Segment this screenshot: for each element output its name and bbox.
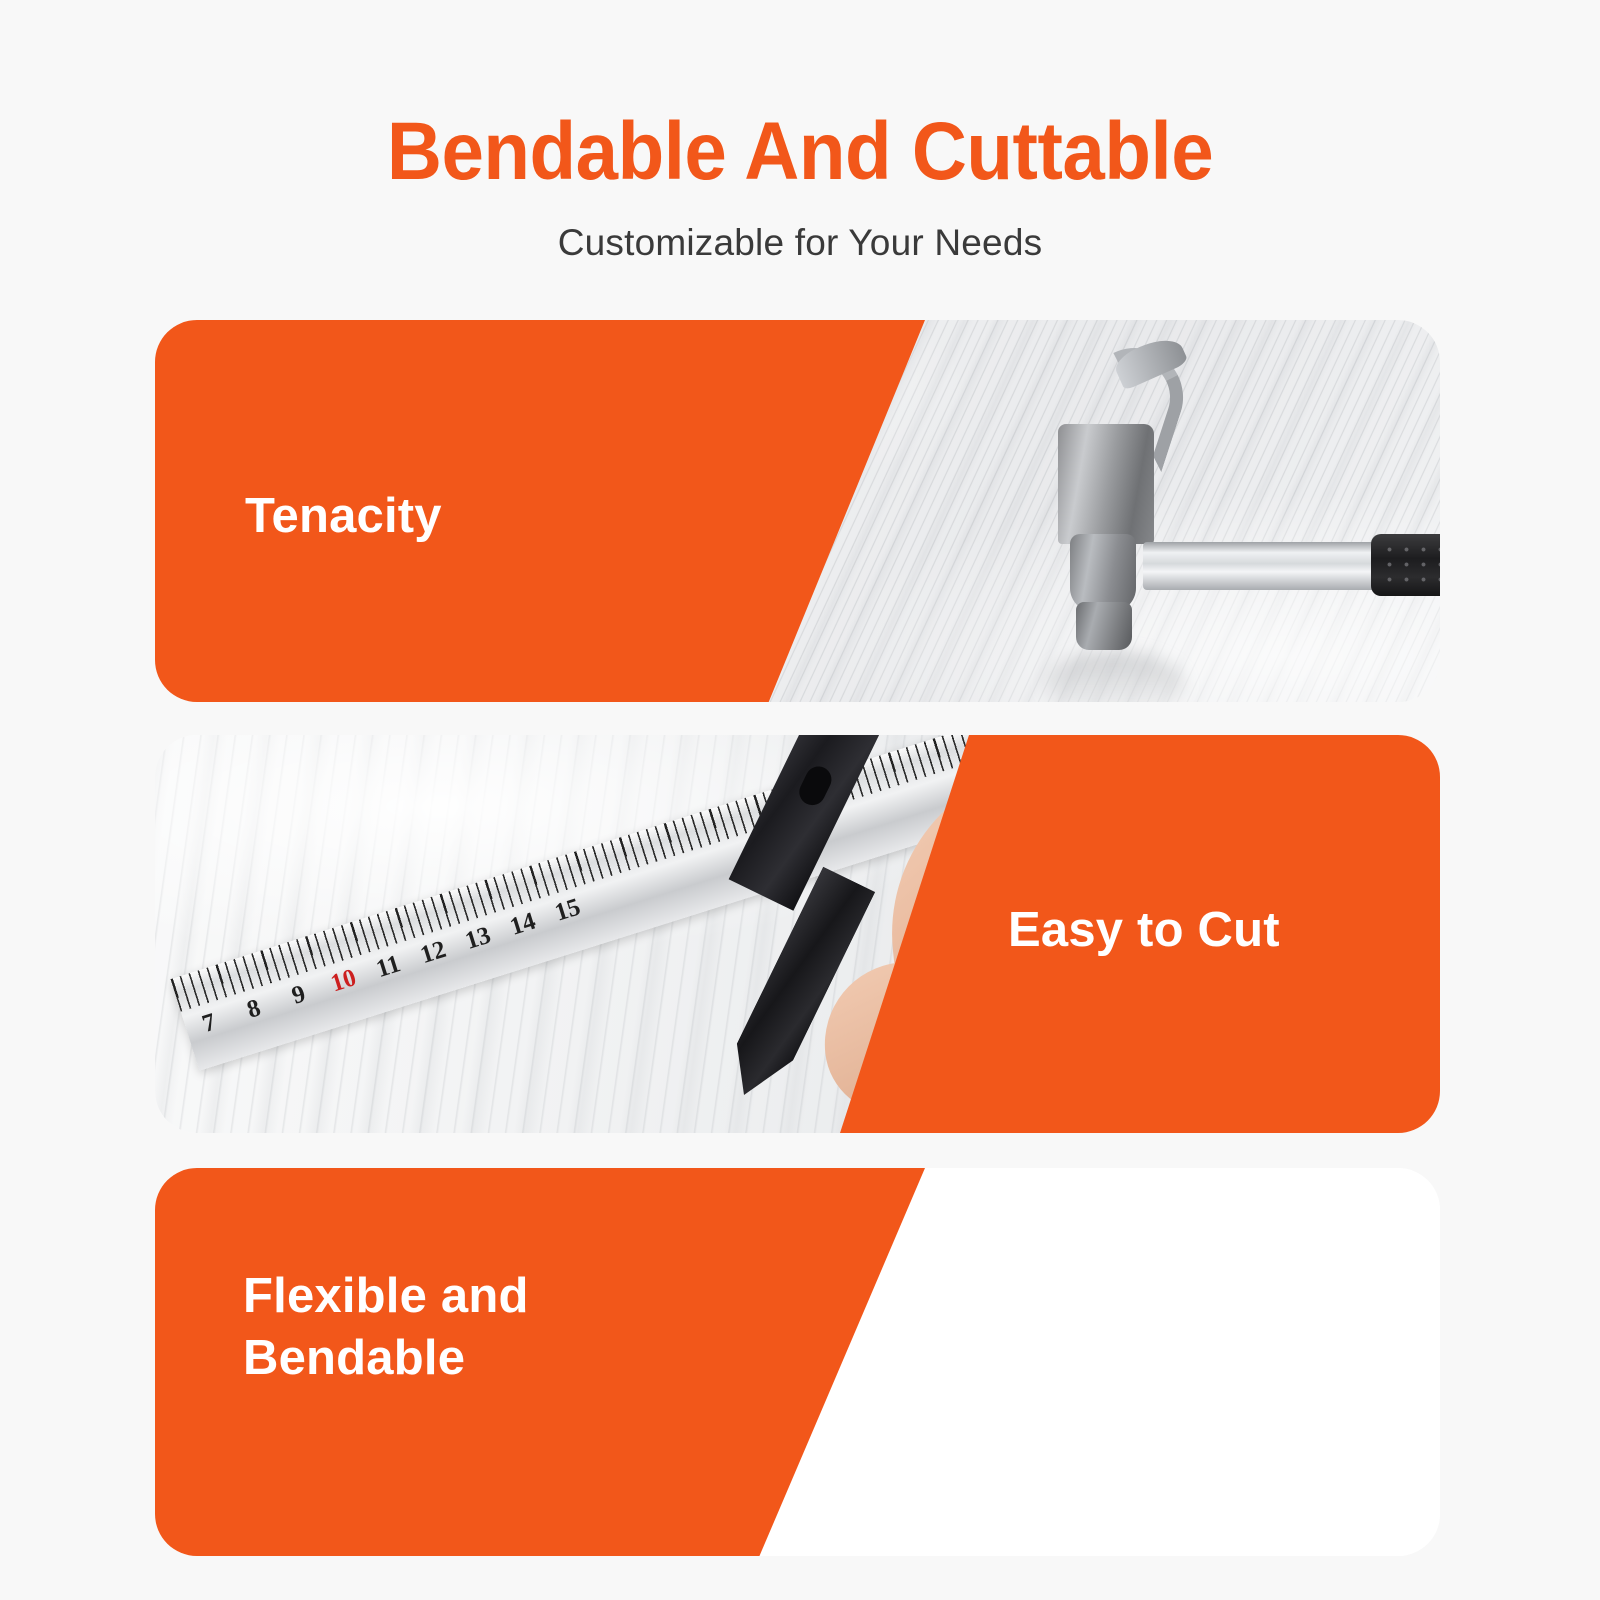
card-label-tenacity: Tenacity	[245, 486, 442, 548]
card-label-flexible-and-bendable: Flexible and Bendable	[243, 1266, 529, 1389]
hammer-face-icon	[1076, 602, 1132, 650]
page-subtitle: Customizable for Your Needs	[0, 222, 1600, 264]
card-label-easy-to-cut: Easy to Cut	[1008, 900, 1280, 962]
hammer-shaft-icon	[1143, 542, 1383, 590]
hammer-head-icon	[1058, 424, 1154, 544]
header: Bendable And Cuttable Customizable for Y…	[0, 0, 1600, 264]
page-title: Bendable And Cuttable	[56, 112, 1544, 192]
hammer-grip-icon	[1371, 534, 1440, 596]
hammer-neck-icon	[1070, 534, 1136, 612]
hammer-reflection	[1045, 652, 1185, 702]
